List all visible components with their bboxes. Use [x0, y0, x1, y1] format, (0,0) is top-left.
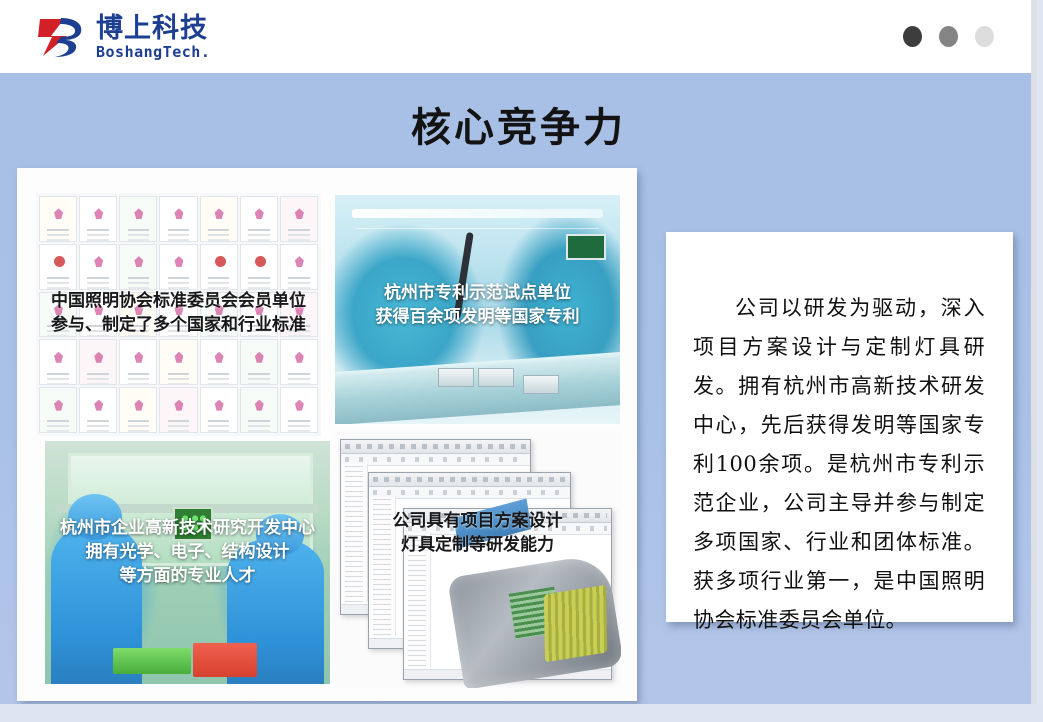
caption-line: 杭州市企业高新技术研究开发中心	[45, 516, 330, 540]
caption-line: 参与、制定了多个国家和行业标准	[36, 313, 321, 337]
gallery-panel: 中国照明协会标准委员会会员单位 参与、制定了多个国家和行业标准	[17, 168, 637, 701]
description-card: 公司以研发为驱动，深入项目方案设计与定制灯具研发。拥有杭州市高新技术研发中心，先…	[666, 232, 1013, 622]
footer-strip	[0, 704, 1043, 722]
description-paragraph: 公司以研发为驱动，深入项目方案设计与定制灯具研发。拥有杭州市高新技术研发中心，先…	[693, 289, 985, 640]
caption-line: 获得百余项发明等国家专利	[335, 305, 620, 329]
gallery-caption-certificates: 中国照明协会标准委员会会员单位 参与、制定了多个国家和行业标准	[36, 289, 321, 337]
cad-windows-image	[334, 431, 621, 688]
slide-stage: 核心竞争力	[0, 73, 1037, 704]
dot-light-icon[interactable]	[975, 26, 994, 47]
caption-line: 灯具定制等研发能力	[334, 533, 621, 557]
logo-company-en: BoshangTech.	[96, 45, 210, 60]
logo-wordmark: 博上科技 BoshangTech.	[96, 15, 210, 60]
slide-progress-dots[interactable]	[903, 26, 994, 47]
caption-line: 公司具有项目方案设计	[334, 509, 621, 533]
gallery-caption-lab: 杭州市企业高新技术研究开发中心 拥有光学、电子、结构设计 等方面的专业人才	[45, 516, 330, 588]
logo-company-cn: 博上科技	[96, 15, 210, 42]
page-title: 核心竞争力	[0, 95, 1037, 153]
gallery-caption-cad: 公司具有项目方案设计 灯具定制等研发能力	[334, 509, 621, 557]
dot-mid-icon[interactable]	[939, 26, 958, 47]
gallery-cell-lab[interactable]: 杭州市企业高新技术研究开发中心 拥有光学、电子、结构设计 等方面的专业人才	[45, 441, 330, 684]
gallery-cell-certificates[interactable]: 中国照明协会标准委员会会员单位 参与、制定了多个国家和行业标准	[36, 193, 321, 436]
gallery-grid: 中国照明协会标准委员会会员单位 参与、制定了多个国家和行业标准	[27, 178, 627, 691]
gallery-cell-cad[interactable]: 公司具有项目方案设计 灯具定制等研发能力	[334, 431, 621, 688]
company-logo[interactable]: 博上科技 BoshangTech.	[37, 13, 210, 61]
caption-line: 等方面的专业人才	[45, 564, 330, 588]
gallery-caption-cleanroom: 杭州市专利示范试点单位 获得百余项发明等国家专利	[335, 281, 620, 329]
caption-line: 中国照明协会标准委员会会员单位	[36, 289, 321, 313]
gallery-cell-cleanroom[interactable]: 杭州市专利示范试点单位 获得百余项发明等国家专利	[335, 195, 620, 424]
boshang-bs-monogram-icon	[37, 15, 89, 59]
dot-dark-icon[interactable]	[903, 26, 922, 47]
page-header: 博上科技 BoshangTech.	[0, 0, 1037, 73]
caption-line: 杭州市专利示范试点单位	[335, 281, 620, 305]
caption-line: 拥有光学、电子、结构设计	[45, 540, 330, 564]
slide-root: 博上科技 BoshangTech. 核心竞争力	[0, 0, 1043, 722]
